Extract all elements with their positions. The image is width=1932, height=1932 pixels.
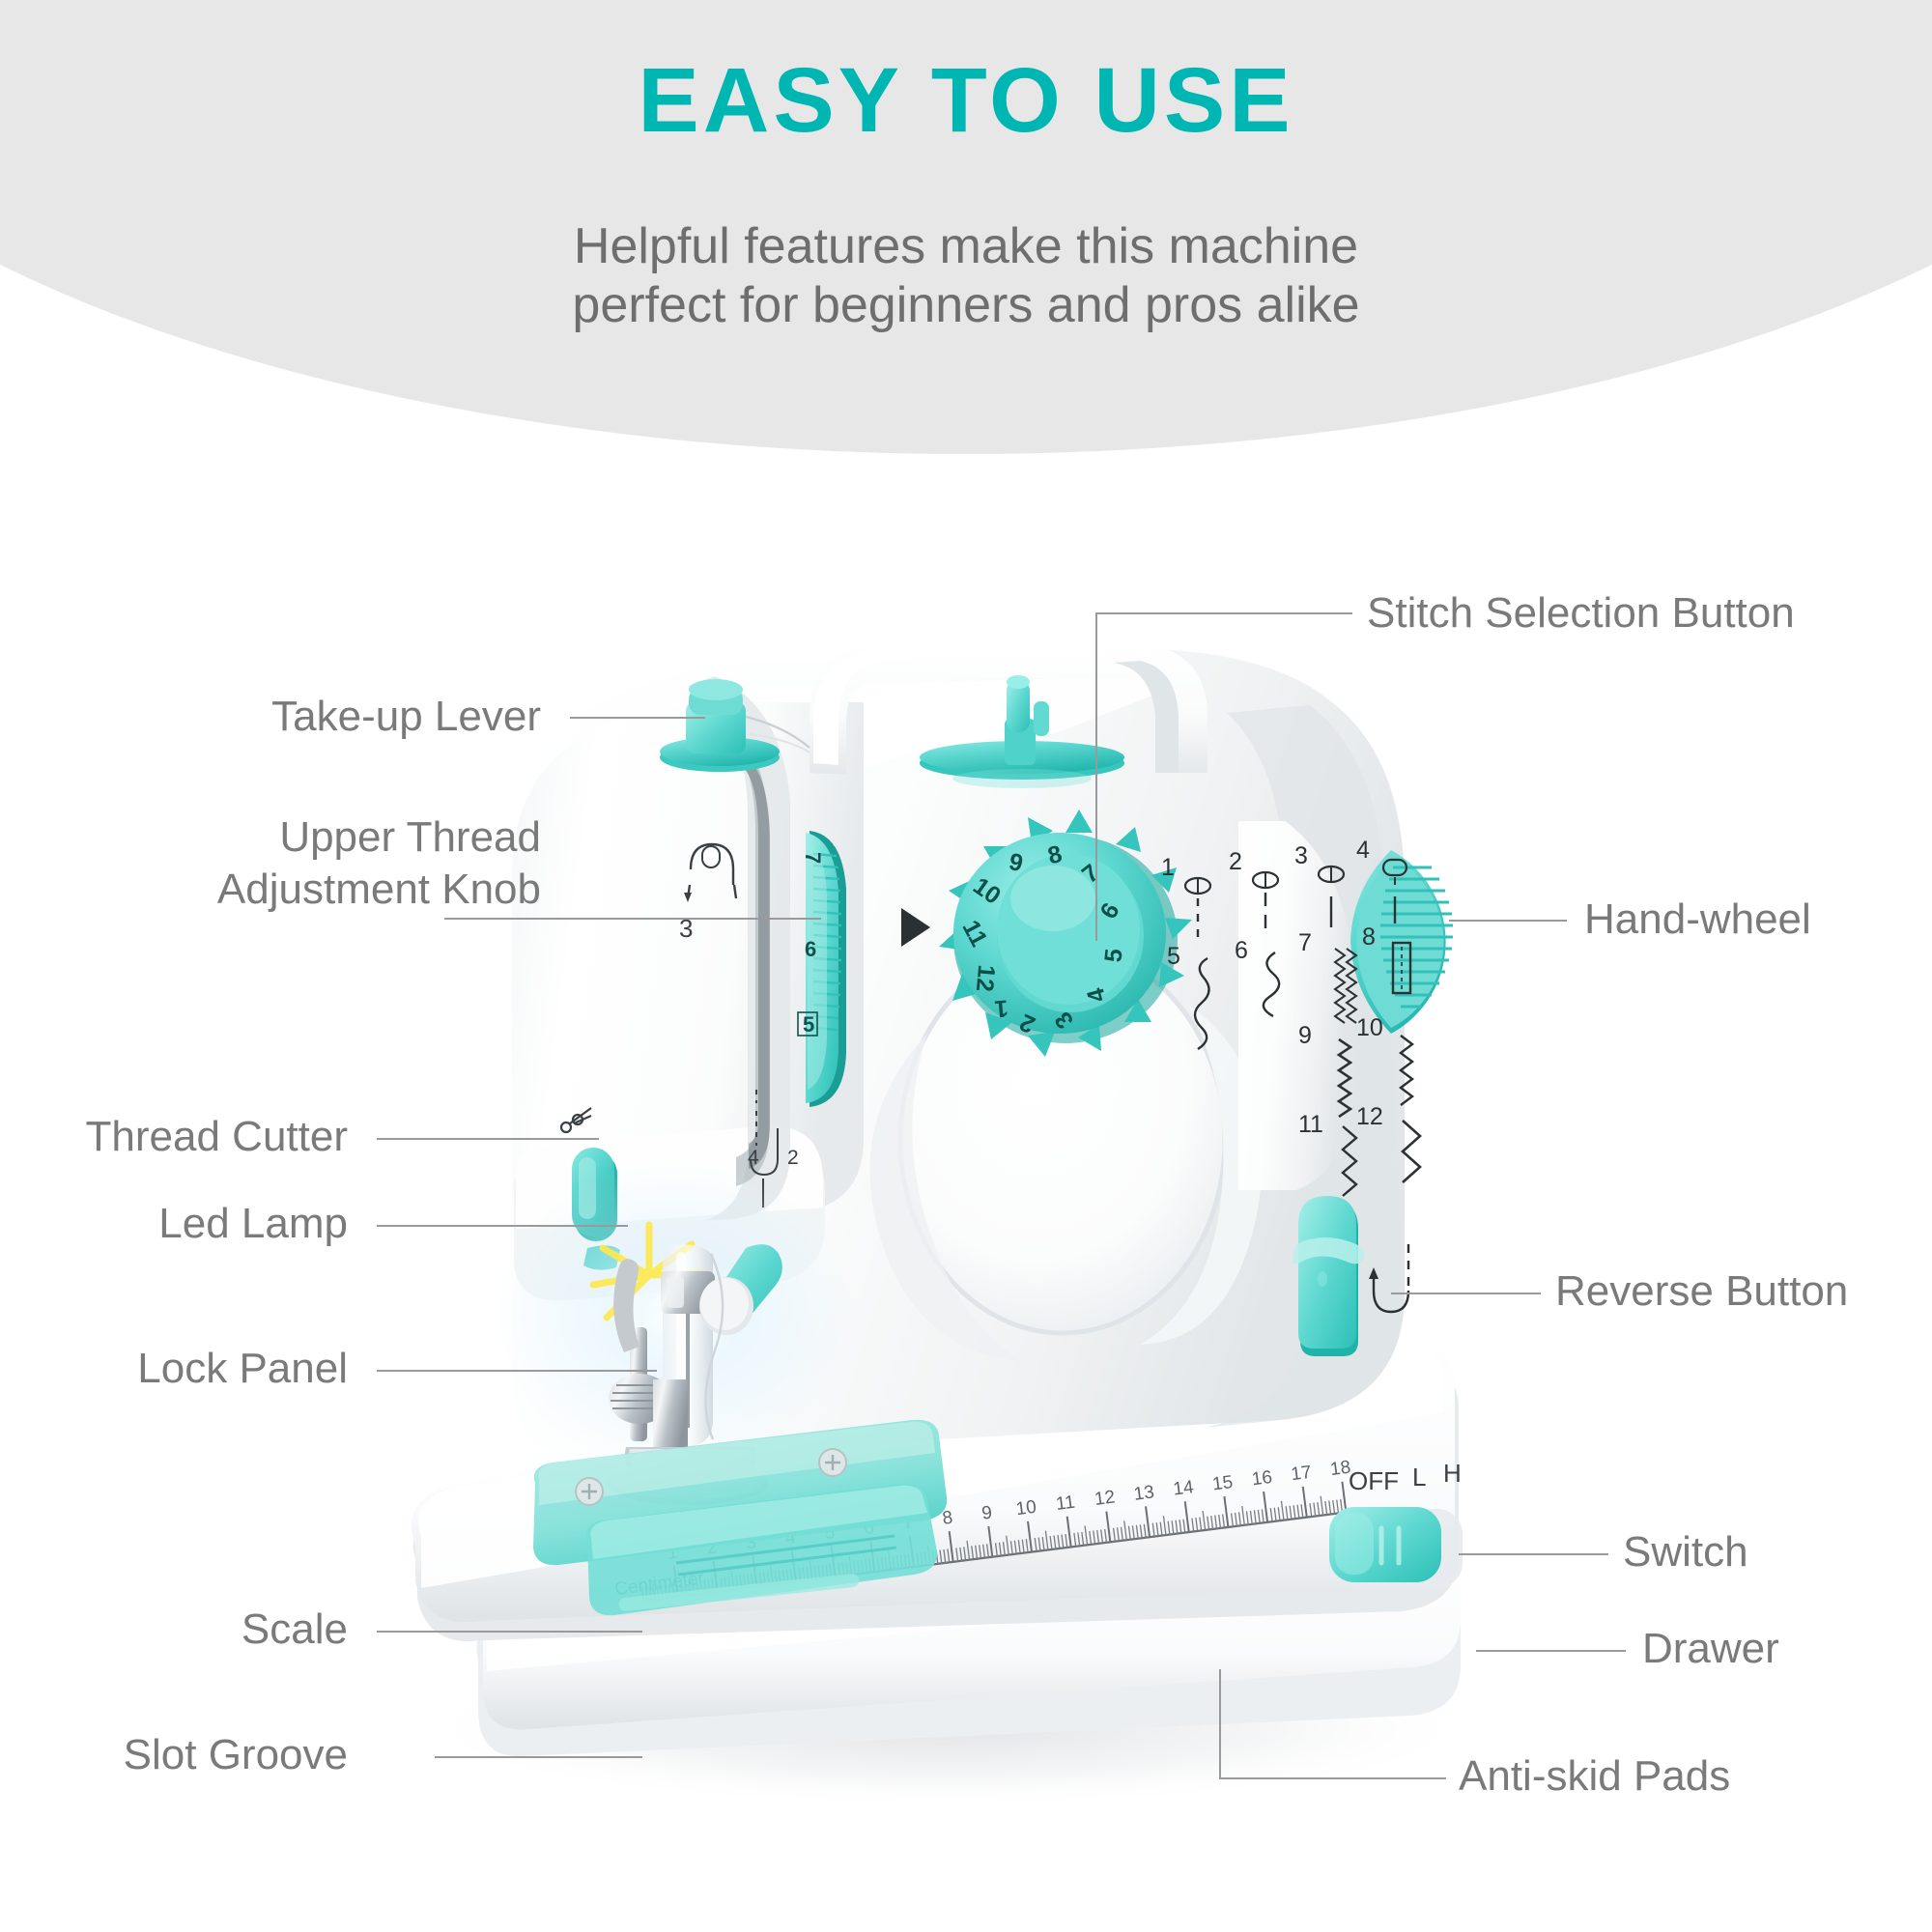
- leader-lock-panel: [377, 1370, 657, 1372]
- callout-take-up-lever: Take-up Lever: [135, 691, 541, 743]
- leader-scale: [377, 1631, 642, 1633]
- stitch-pattern-4: 4: [1356, 837, 1406, 923]
- leader-reverse-button: [1391, 1293, 1541, 1294]
- callout-stitch-selection-button: Stitch Selection Button: [1367, 587, 1908, 639]
- scale-ruler: Centimeter 1 2 3 4 5 6 7 8 9 10 11 12 13…: [610, 1458, 1356, 1605]
- leader-slot-groove: [435, 1756, 642, 1758]
- upper-thread-tension-knob: 7 6 5: [798, 831, 846, 1107]
- leader-drawer: [1476, 1650, 1626, 1652]
- svg-text:2: 2: [787, 1147, 799, 1169]
- svg-text:2: 2: [1229, 848, 1242, 875]
- svg-text:7: 7: [1298, 929, 1312, 956]
- callout-switch: Switch: [1623, 1526, 1913, 1578]
- needle-assembly: [493, 1159, 860, 1505]
- svg-text:11: 11: [956, 916, 992, 952]
- svg-text:Centimeter: Centimeter: [613, 1568, 705, 1600]
- thread-cutter-icon: [561, 1108, 591, 1132]
- svg-text:13: 13: [1133, 1482, 1156, 1504]
- stitch-pattern-3: 3: [1294, 842, 1344, 927]
- callout-led-lamp: Led Lamp: [106, 1198, 348, 1250]
- machine-bed: [412, 1336, 1459, 1641]
- svg-text:10: 10: [1356, 1014, 1383, 1041]
- page-title: EASY TO USE: [0, 53, 1932, 150]
- leader-switch: [1459, 1553, 1608, 1555]
- leader-anti-skid-v: [1219, 1669, 1221, 1779]
- callout-upper-thread-knob: Upper Thread Adjustment Knob: [58, 811, 541, 915]
- svg-text:5: 5: [1167, 943, 1180, 970]
- machine-body: [512, 649, 1405, 1459]
- svg-text:1: 1: [667, 1543, 679, 1564]
- leader-stitch-selection-v: [1095, 612, 1097, 941]
- svg-text:5: 5: [1099, 948, 1127, 964]
- arrow-indicator: [901, 908, 930, 947]
- svg-text:7: 7: [1077, 859, 1104, 889]
- svg-text:4: 4: [748, 1147, 759, 1169]
- power-switch: OFF L H: [1329, 1459, 1463, 1588]
- leader-led-lamp: [377, 1225, 628, 1227]
- svg-text:7: 7: [902, 1513, 915, 1534]
- svg-text:6: 6: [863, 1518, 875, 1539]
- svg-text:16: 16: [1251, 1467, 1274, 1490]
- svg-text:8: 8: [1362, 923, 1376, 951]
- svg-text:6: 6: [805, 937, 816, 961]
- svg-text:11: 11: [1298, 1111, 1323, 1138]
- stitch-pattern-chart: 1 2 3 4 5 6: [1161, 837, 1420, 1196]
- product-shadow: [406, 1650, 1488, 1808]
- callout-reverse-button: Reverse Button: [1555, 1265, 1932, 1318]
- thread-cutter-button: [572, 1148, 617, 1241]
- stitch-pattern-6: 6: [1235, 937, 1279, 1016]
- svg-text:7: 7: [801, 852, 825, 864]
- led-lamp-rays: [593, 1225, 705, 1318]
- svg-text:5: 5: [803, 1012, 814, 1037]
- leader-upper-thread-knob: [444, 918, 821, 920]
- svg-text:6: 6: [1094, 898, 1124, 923]
- svg-text:3: 3: [1294, 842, 1308, 869]
- switch-label-h: H: [1443, 1459, 1462, 1488]
- svg-text:18: 18: [1329, 1458, 1352, 1480]
- svg-text:4: 4: [784, 1527, 798, 1548]
- leader-take-up-lever: [570, 717, 705, 719]
- callout-drawer: Drawer: [1642, 1623, 1932, 1675]
- stitch-pattern-1: 1: [1161, 854, 1210, 943]
- reverse-button: [1293, 1196, 1364, 1356]
- svg-text:2: 2: [1015, 1009, 1038, 1038]
- svg-text:5: 5: [823, 1522, 836, 1544]
- slot-groove: [495, 1534, 1447, 1619]
- free-arm-opening: [900, 947, 1225, 1333]
- svg-text:10: 10: [1015, 1497, 1038, 1520]
- stitch-pattern-8: 8: [1362, 923, 1410, 993]
- svg-text:1: 1: [993, 994, 1009, 1022]
- svg-text:11: 11: [1055, 1492, 1076, 1515]
- svg-text:12: 12: [1356, 1103, 1383, 1130]
- svg-text:12: 12: [1094, 1487, 1117, 1509]
- threading-guide-icon: [684, 844, 736, 902]
- switch-label-l: L: [1412, 1463, 1426, 1492]
- leader-thread-cutter: [377, 1138, 599, 1140]
- svg-text:3: 3: [745, 1532, 757, 1553]
- svg-text:17: 17: [1290, 1463, 1313, 1485]
- stitch-pattern-11: 11: [1298, 1111, 1356, 1196]
- drawer-base: [476, 1534, 1461, 1756]
- leader-hand-wheel: [1449, 920, 1567, 922]
- hand-wheel: [1238, 821, 1453, 1190]
- callout-slot-groove: Slot Groove: [39, 1729, 348, 1781]
- stitch-pattern-5: 5: [1167, 943, 1209, 1049]
- take-up-lever: [660, 679, 817, 772]
- stitch-pattern-10: 10: [1356, 1014, 1412, 1105]
- callout-scale: Scale: [87, 1604, 348, 1656]
- spool-pin: [920, 675, 1124, 788]
- svg-text:9: 9: [1298, 1022, 1312, 1049]
- leader-stitch-selection-corner: [1095, 612, 1231, 614]
- svg-text:8: 8: [1045, 840, 1065, 870]
- svg-text:2: 2: [705, 1537, 718, 1558]
- lock-panel: [533, 1420, 947, 1615]
- svg-text:15: 15: [1211, 1472, 1235, 1494]
- svg-text:9: 9: [1007, 848, 1025, 877]
- reverse-icon: [1369, 1244, 1408, 1312]
- header-band: EASY TO USE Helpful features make this m…: [0, 0, 1932, 454]
- svg-text:14: 14: [1172, 1477, 1195, 1500]
- svg-text:3: 3: [1049, 1007, 1079, 1034]
- callout-lock-panel: Lock Panel: [68, 1343, 348, 1395]
- callout-thread-cutter: Thread Cutter: [29, 1111, 348, 1163]
- svg-text:12: 12: [971, 964, 1000, 993]
- body-shell: [512, 649, 1405, 1459]
- leader-anti-skid-h: [1219, 1777, 1446, 1779]
- stitch-pattern-12: 12: [1356, 1103, 1420, 1182]
- stitch-selection-dial: 1 2 3 4 5 6 7 8 9 10 11 12: [939, 810, 1192, 1057]
- page-subtitle: Helpful features make this machine perfe…: [0, 217, 1932, 336]
- switch-label-off: OFF: [1349, 1466, 1399, 1495]
- svg-text:8: 8: [941, 1508, 953, 1529]
- head-teal-nub: [583, 1245, 620, 1269]
- carry-handle: [810, 643, 1207, 775]
- led-lamp-glow: [493, 1159, 860, 1468]
- stitch-pattern-2: 2: [1229, 848, 1278, 935]
- svg-text:6: 6: [1235, 937, 1248, 964]
- svg-text:10: 10: [968, 872, 1006, 910]
- svg-text:4: 4: [1082, 985, 1112, 1006]
- callout-anti-skid-pads: Anti-skid Pads: [1459, 1750, 1884, 1803]
- machine-head: [512, 676, 864, 1300]
- stitch-pattern-9: 9: [1298, 1022, 1350, 1117]
- svg-text:9: 9: [980, 1503, 993, 1524]
- callout-hand-wheel: Hand-wheel: [1584, 894, 1913, 946]
- leader-stitch-selection-h: [1229, 612, 1352, 614]
- head-marking-icons: [751, 1090, 778, 1207]
- stitch-pattern-7: 7: [1298, 929, 1356, 1023]
- svg-text:4: 4: [1356, 837, 1370, 864]
- svg-text:1: 1: [1161, 854, 1175, 881]
